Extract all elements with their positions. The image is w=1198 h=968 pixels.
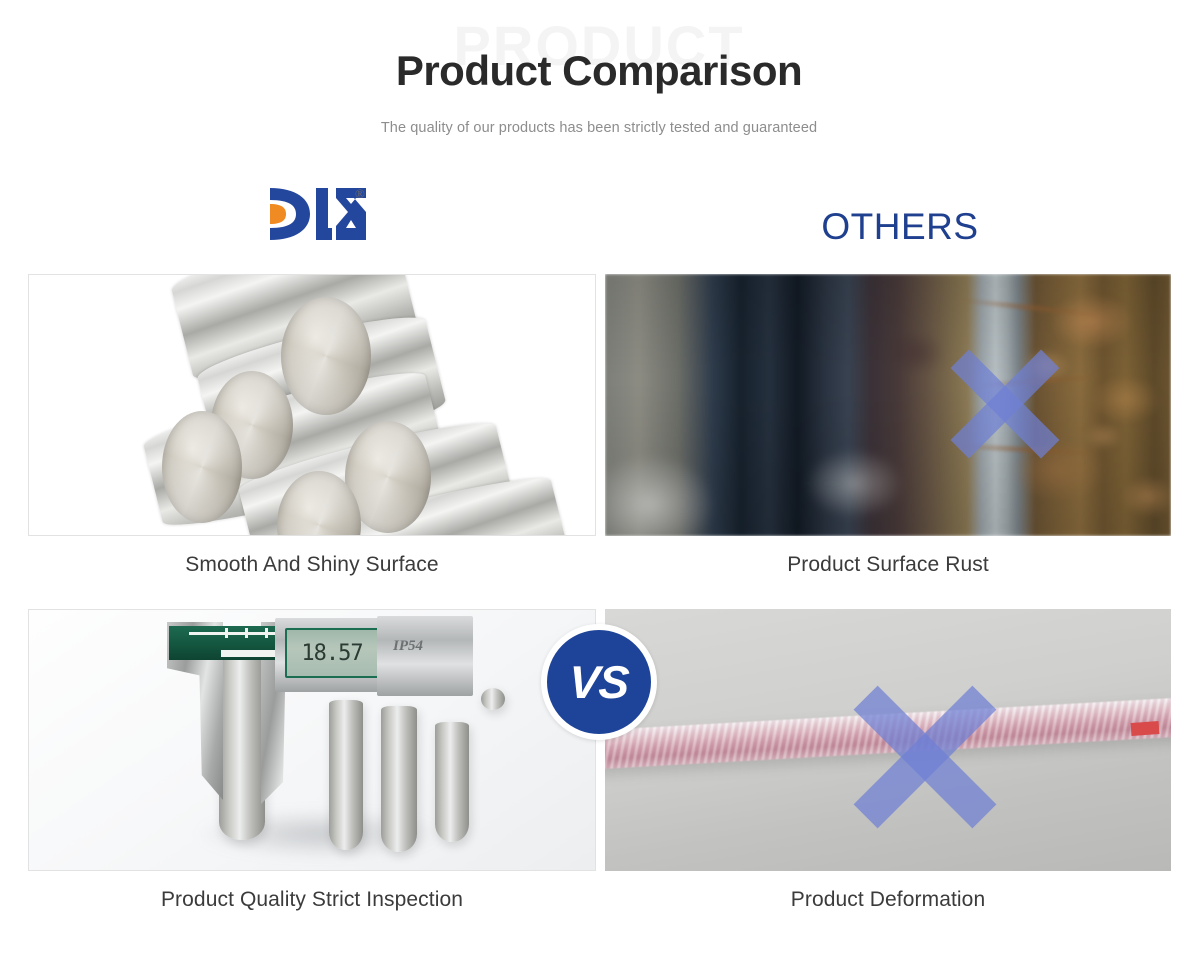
panel-our-product-1: Smooth And Shiny Surface [28, 274, 596, 577]
caption-product-deformation: Product Deformation [605, 871, 1171, 912]
panel-other-product-1: Product Surface Rust [605, 274, 1171, 577]
caliper-lcd-display: 18.57 [285, 628, 379, 678]
product-comparison-page: PRODUCT Product Comparison The quality o… [0, 0, 1198, 968]
image-product-deformation [605, 609, 1171, 871]
caption-product-surface-rust: Product Surface Rust [605, 536, 1171, 577]
comparison-row-1: Smooth And Shiny Surface Product Surface… [0, 274, 1198, 594]
page-header: PRODUCT Product Comparison The quality o… [0, 0, 1198, 160]
red-tape-marker [1131, 721, 1160, 736]
brand-row: ® OTHERS [0, 172, 1198, 260]
page-title: Product Comparison [0, 48, 1198, 94]
caliper-ip-rating: IP54 [393, 638, 423, 655]
others-label: OTHERS [770, 208, 1030, 245]
image-caliper-inspection: 18.57 IP54 [28, 609, 596, 871]
panel-other-product-2: Product Deformation [605, 609, 1171, 912]
vs-badge-row-1: VS [541, 624, 657, 740]
panel-our-product-2: 18.57 IP54 Product Quality Strict Inspec… [28, 609, 596, 912]
page-subtitle: The quality of our products has been str… [0, 120, 1198, 136]
caption-smooth-shiny-surface: Smooth And Shiny Surface [28, 536, 596, 577]
image-polished-steel-bars [28, 274, 596, 536]
caption-product-quality-strict-inspection: Product Quality Strict Inspection [28, 871, 596, 912]
vs-badge-label: VS [568, 659, 630, 705]
caliper-illustration: 18.57 IP54 [29, 610, 595, 870]
rods-illustration [29, 275, 595, 535]
company-logo: ® [262, 182, 382, 254]
deformation-illustration [605, 609, 1171, 871]
caliper-reading: 18.57 [301, 641, 362, 666]
registered-trademark-icon: ® [355, 186, 365, 202]
bent-bar [605, 697, 1171, 770]
image-rusted-pipe [605, 274, 1171, 536]
